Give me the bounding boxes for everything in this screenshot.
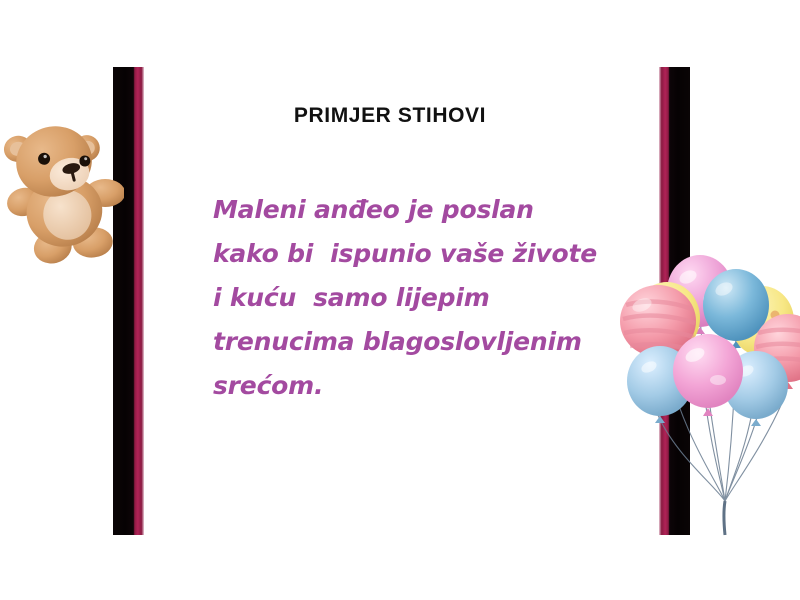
verse-line-5: srećom. (213, 364, 623, 408)
verse-line-1: Maleni anđeo je poslan (213, 188, 623, 232)
verse-line-3: i kuću samo lijepim (213, 276, 623, 320)
page-title: PRIMJER STIHOVI (180, 104, 600, 128)
teddy-bear-image (2, 103, 124, 268)
verse-line-4: trenucima blagoslovljenim (213, 320, 623, 364)
verse-block: Maleni anđeo je poslan kako bi ispunio v… (213, 188, 623, 408)
balloon-bunch-image (612, 243, 800, 543)
verse-line-2: kako bi ispunio vaše živote (213, 232, 623, 276)
slide-canvas: PRIMJER STIHOVI Maleni anđeo je poslan k… (0, 0, 800, 600)
